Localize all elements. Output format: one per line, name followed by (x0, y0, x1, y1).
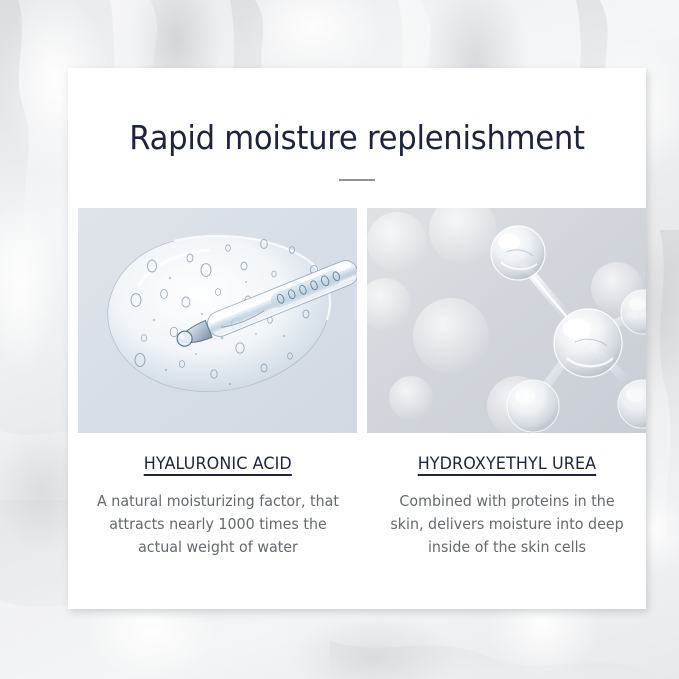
ingredient-column-hydroxyethyl-urea: HYDROXYETHYL UREA Combined with proteins… (367, 208, 646, 558)
ingredient-heading-right: HYDROXYETHYL UREA (417, 454, 595, 474)
ingredient-columns: HYALURONIC ACID A natural moisturizing f… (68, 208, 646, 558)
infographic-poster: Rapid moisture replenishment (0, 0, 679, 679)
molecule-illustration (367, 208, 646, 433)
ingredient-body-right: Combined with proteins in the skin, deli… (384, 490, 629, 558)
serum-dropper-illustration (78, 208, 357, 433)
page-title: Rapid moisture replenishment (88, 118, 626, 157)
ingredient-heading-left: HYALURONIC ACID (143, 454, 291, 474)
ingredient-column-hyaluronic-acid: HYALURONIC ACID A natural moisturizing f… (78, 208, 357, 558)
serum-dropper-photo (78, 208, 357, 433)
content-card: Rapid moisture replenishment (68, 68, 646, 609)
ingredient-body-left: A natural moisturizing factor, that attr… (95, 490, 340, 558)
molecule-spheres-photo (367, 208, 646, 433)
title-divider (339, 179, 375, 181)
